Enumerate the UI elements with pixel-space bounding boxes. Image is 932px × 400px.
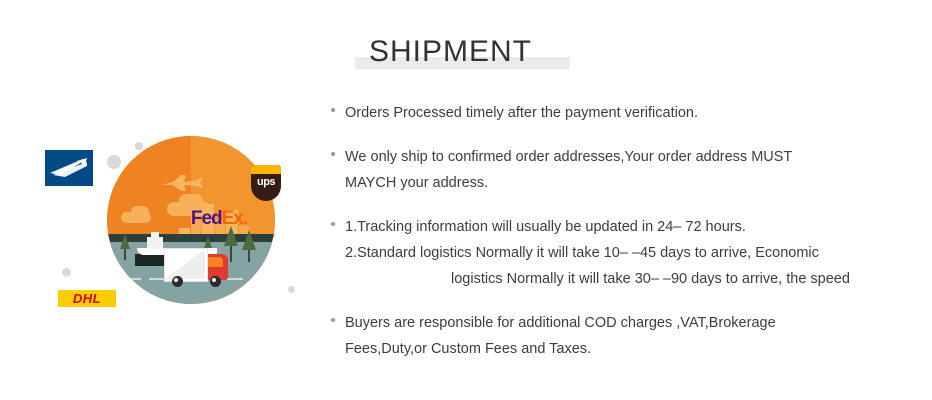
page-title-wrap: SHIPMENT bbox=[355, 32, 532, 72]
fedex-logo-text-primary: Fed bbox=[191, 208, 222, 230]
bullet-dot-icon bbox=[331, 108, 335, 112]
page-title: SHIPMENT bbox=[355, 32, 532, 72]
decorative-dot bbox=[288, 286, 295, 293]
truck-window bbox=[208, 257, 223, 267]
dhl-logo: DHL bbox=[58, 290, 116, 307]
shipping-illustration: FedEx. ups DHL bbox=[40, 90, 320, 340]
shipment-banner: FedEx. ups DHL SHIPMENT bbox=[0, 0, 932, 400]
fedex-logo: FedEx. bbox=[188, 206, 250, 232]
bullet-dot-icon bbox=[331, 152, 335, 156]
truck-wheel bbox=[210, 276, 221, 287]
decorative-dot bbox=[62, 268, 71, 277]
bullet-line: Buyers are responsible for additional CO… bbox=[345, 310, 932, 336]
list-item: We only ship to confirmed order addresse… bbox=[318, 144, 932, 196]
bullet-line: MAYCH your address. bbox=[345, 170, 932, 196]
shipment-content: SHIPMENT Orders Processed timely after t… bbox=[310, 0, 932, 400]
bullet-line: 2.Standard logistics Normally it will ta… bbox=[345, 240, 932, 266]
ups-logo: ups bbox=[251, 165, 281, 201]
truck-wheel bbox=[172, 276, 183, 287]
fedex-logo-dot: . bbox=[243, 208, 247, 230]
bullet-dot-icon bbox=[331, 318, 335, 322]
usps-logo bbox=[45, 150, 93, 186]
fedex-logo-text-secondary: Ex bbox=[222, 208, 243, 230]
dhl-logo-text: DHL bbox=[73, 291, 101, 306]
tree-icon bbox=[120, 234, 130, 249]
bullet-line: 1.Tracking information will usually be u… bbox=[345, 214, 932, 240]
ship-cabin bbox=[151, 232, 159, 238]
list-item: 1.Tracking information will usually be u… bbox=[318, 214, 932, 292]
bullet-line: Fees,Duty,or Custom Fees and Taxes. bbox=[345, 336, 932, 362]
bullet-line-indented: logistics Normally it will take 30– –90 … bbox=[345, 266, 932, 292]
airplane-icon bbox=[159, 174, 205, 192]
bullet-dot-icon bbox=[331, 222, 335, 226]
ups-logo-accent bbox=[251, 165, 281, 174]
bullet-line: We only ship to confirmed order addresse… bbox=[345, 144, 932, 170]
usps-eagle-icon bbox=[47, 153, 91, 183]
list-item: Buyers are responsible for additional CO… bbox=[318, 310, 932, 362]
delivery-truck bbox=[162, 242, 234, 290]
bullet-line: Orders Processed timely after the paymen… bbox=[345, 100, 932, 126]
road-dash bbox=[125, 278, 141, 280]
list-item: Orders Processed timely after the paymen… bbox=[318, 100, 932, 126]
road-dash bbox=[251, 278, 265, 280]
cloud-shape bbox=[131, 206, 149, 218]
ship-cabin bbox=[147, 237, 163, 249]
shipment-bullet-list: Orders Processed timely after the paymen… bbox=[318, 100, 932, 380]
tree-icon bbox=[242, 230, 256, 250]
ups-logo-text: ups bbox=[251, 176, 281, 188]
